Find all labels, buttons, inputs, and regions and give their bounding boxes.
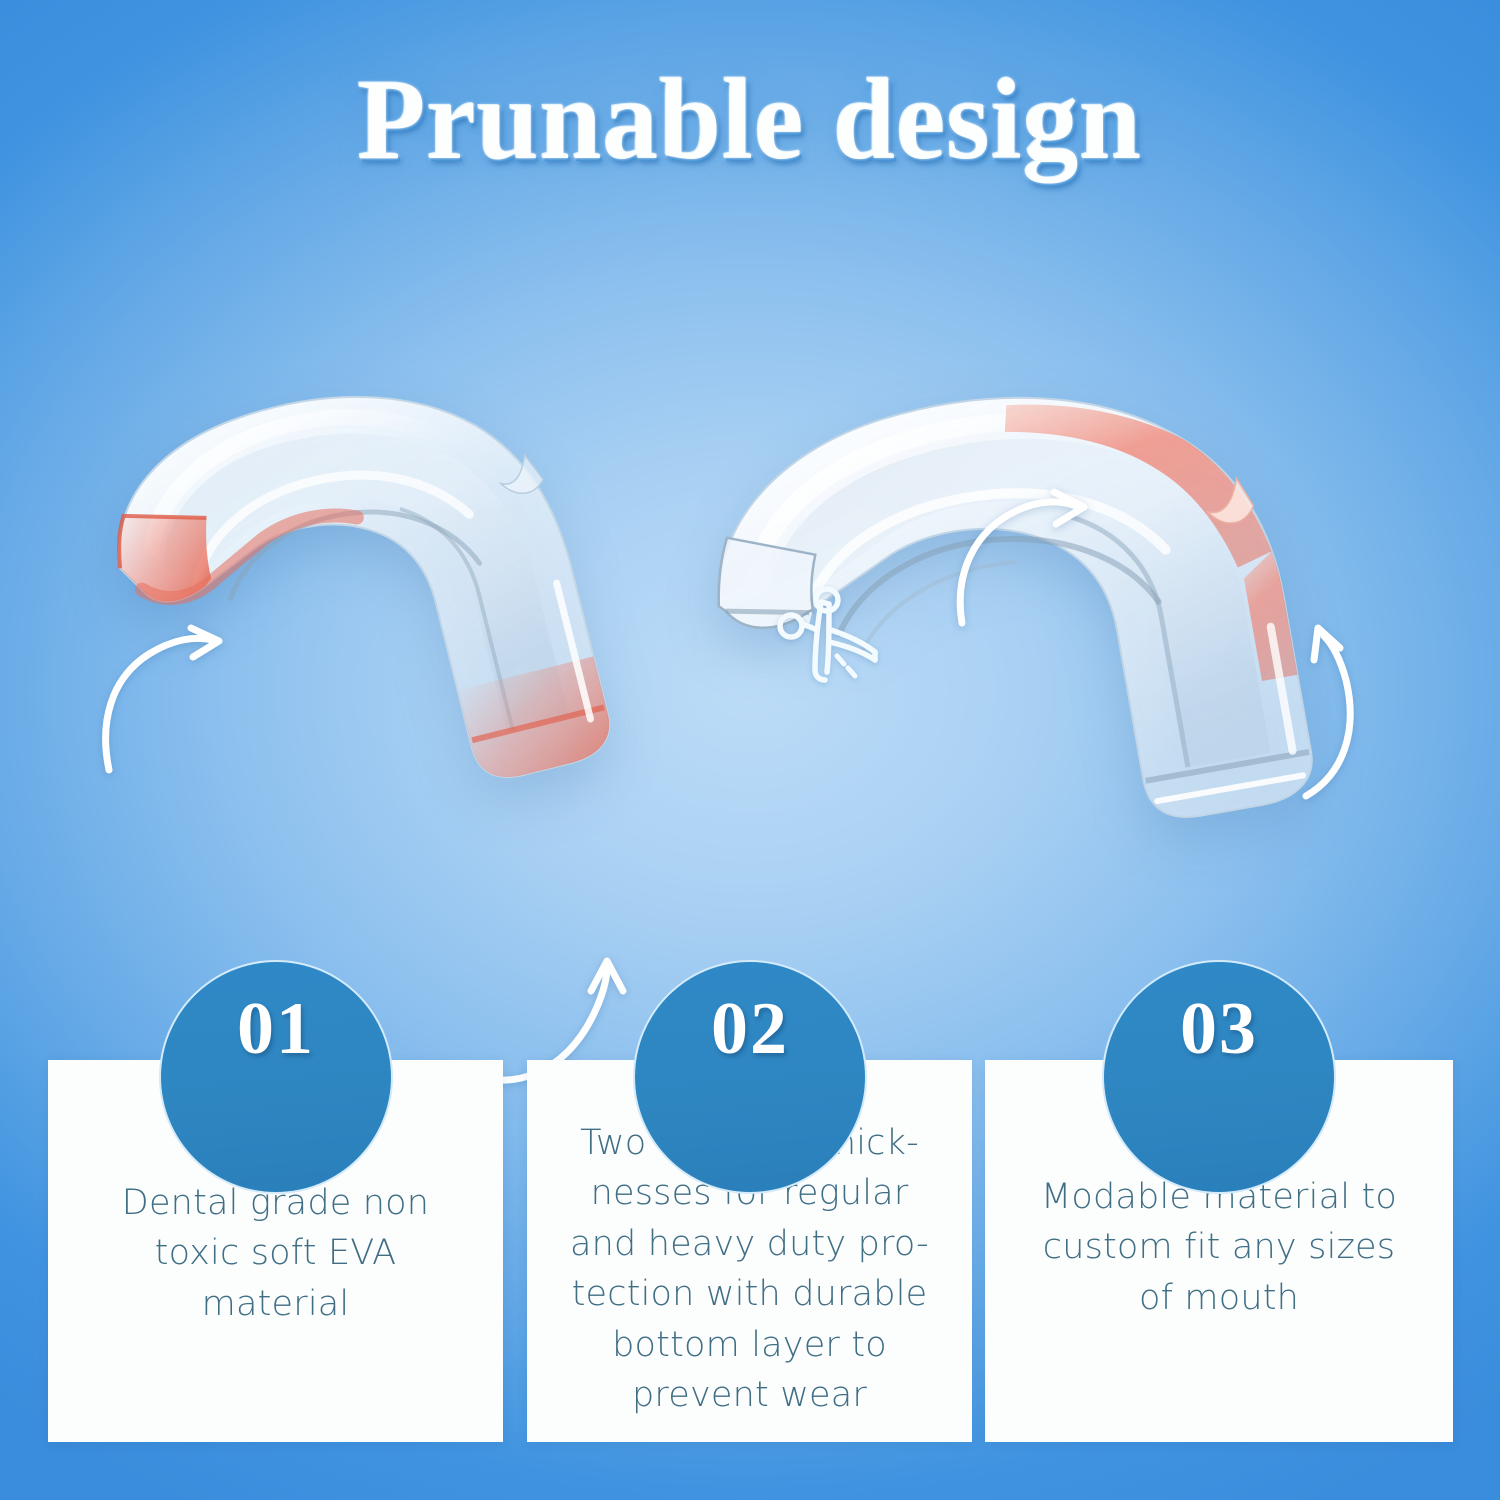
feature-cards: 01 02 03 Dental grade non toxic soft EVA… [0,0,1500,1500]
feature-card-text: Dental grade non toxic soft EVA material [48,1178,503,1329]
feature-badge-01: 01 [159,960,393,1194]
feature-number: 03 [1180,992,1258,1066]
feature-number: 02 [711,992,789,1066]
feature-badge-03: 03 [1102,960,1336,1194]
feature-card-text: Modable material to custom fit any sizes… [985,1172,1453,1323]
page-title: Prunable design [358,62,1143,178]
page-title-wrap: Prunable design [0,62,1500,178]
feature-badge-02: 02 [633,960,867,1194]
infographic-canvas: Prunable design [0,0,1500,1500]
feature-number: 01 [237,992,315,1066]
